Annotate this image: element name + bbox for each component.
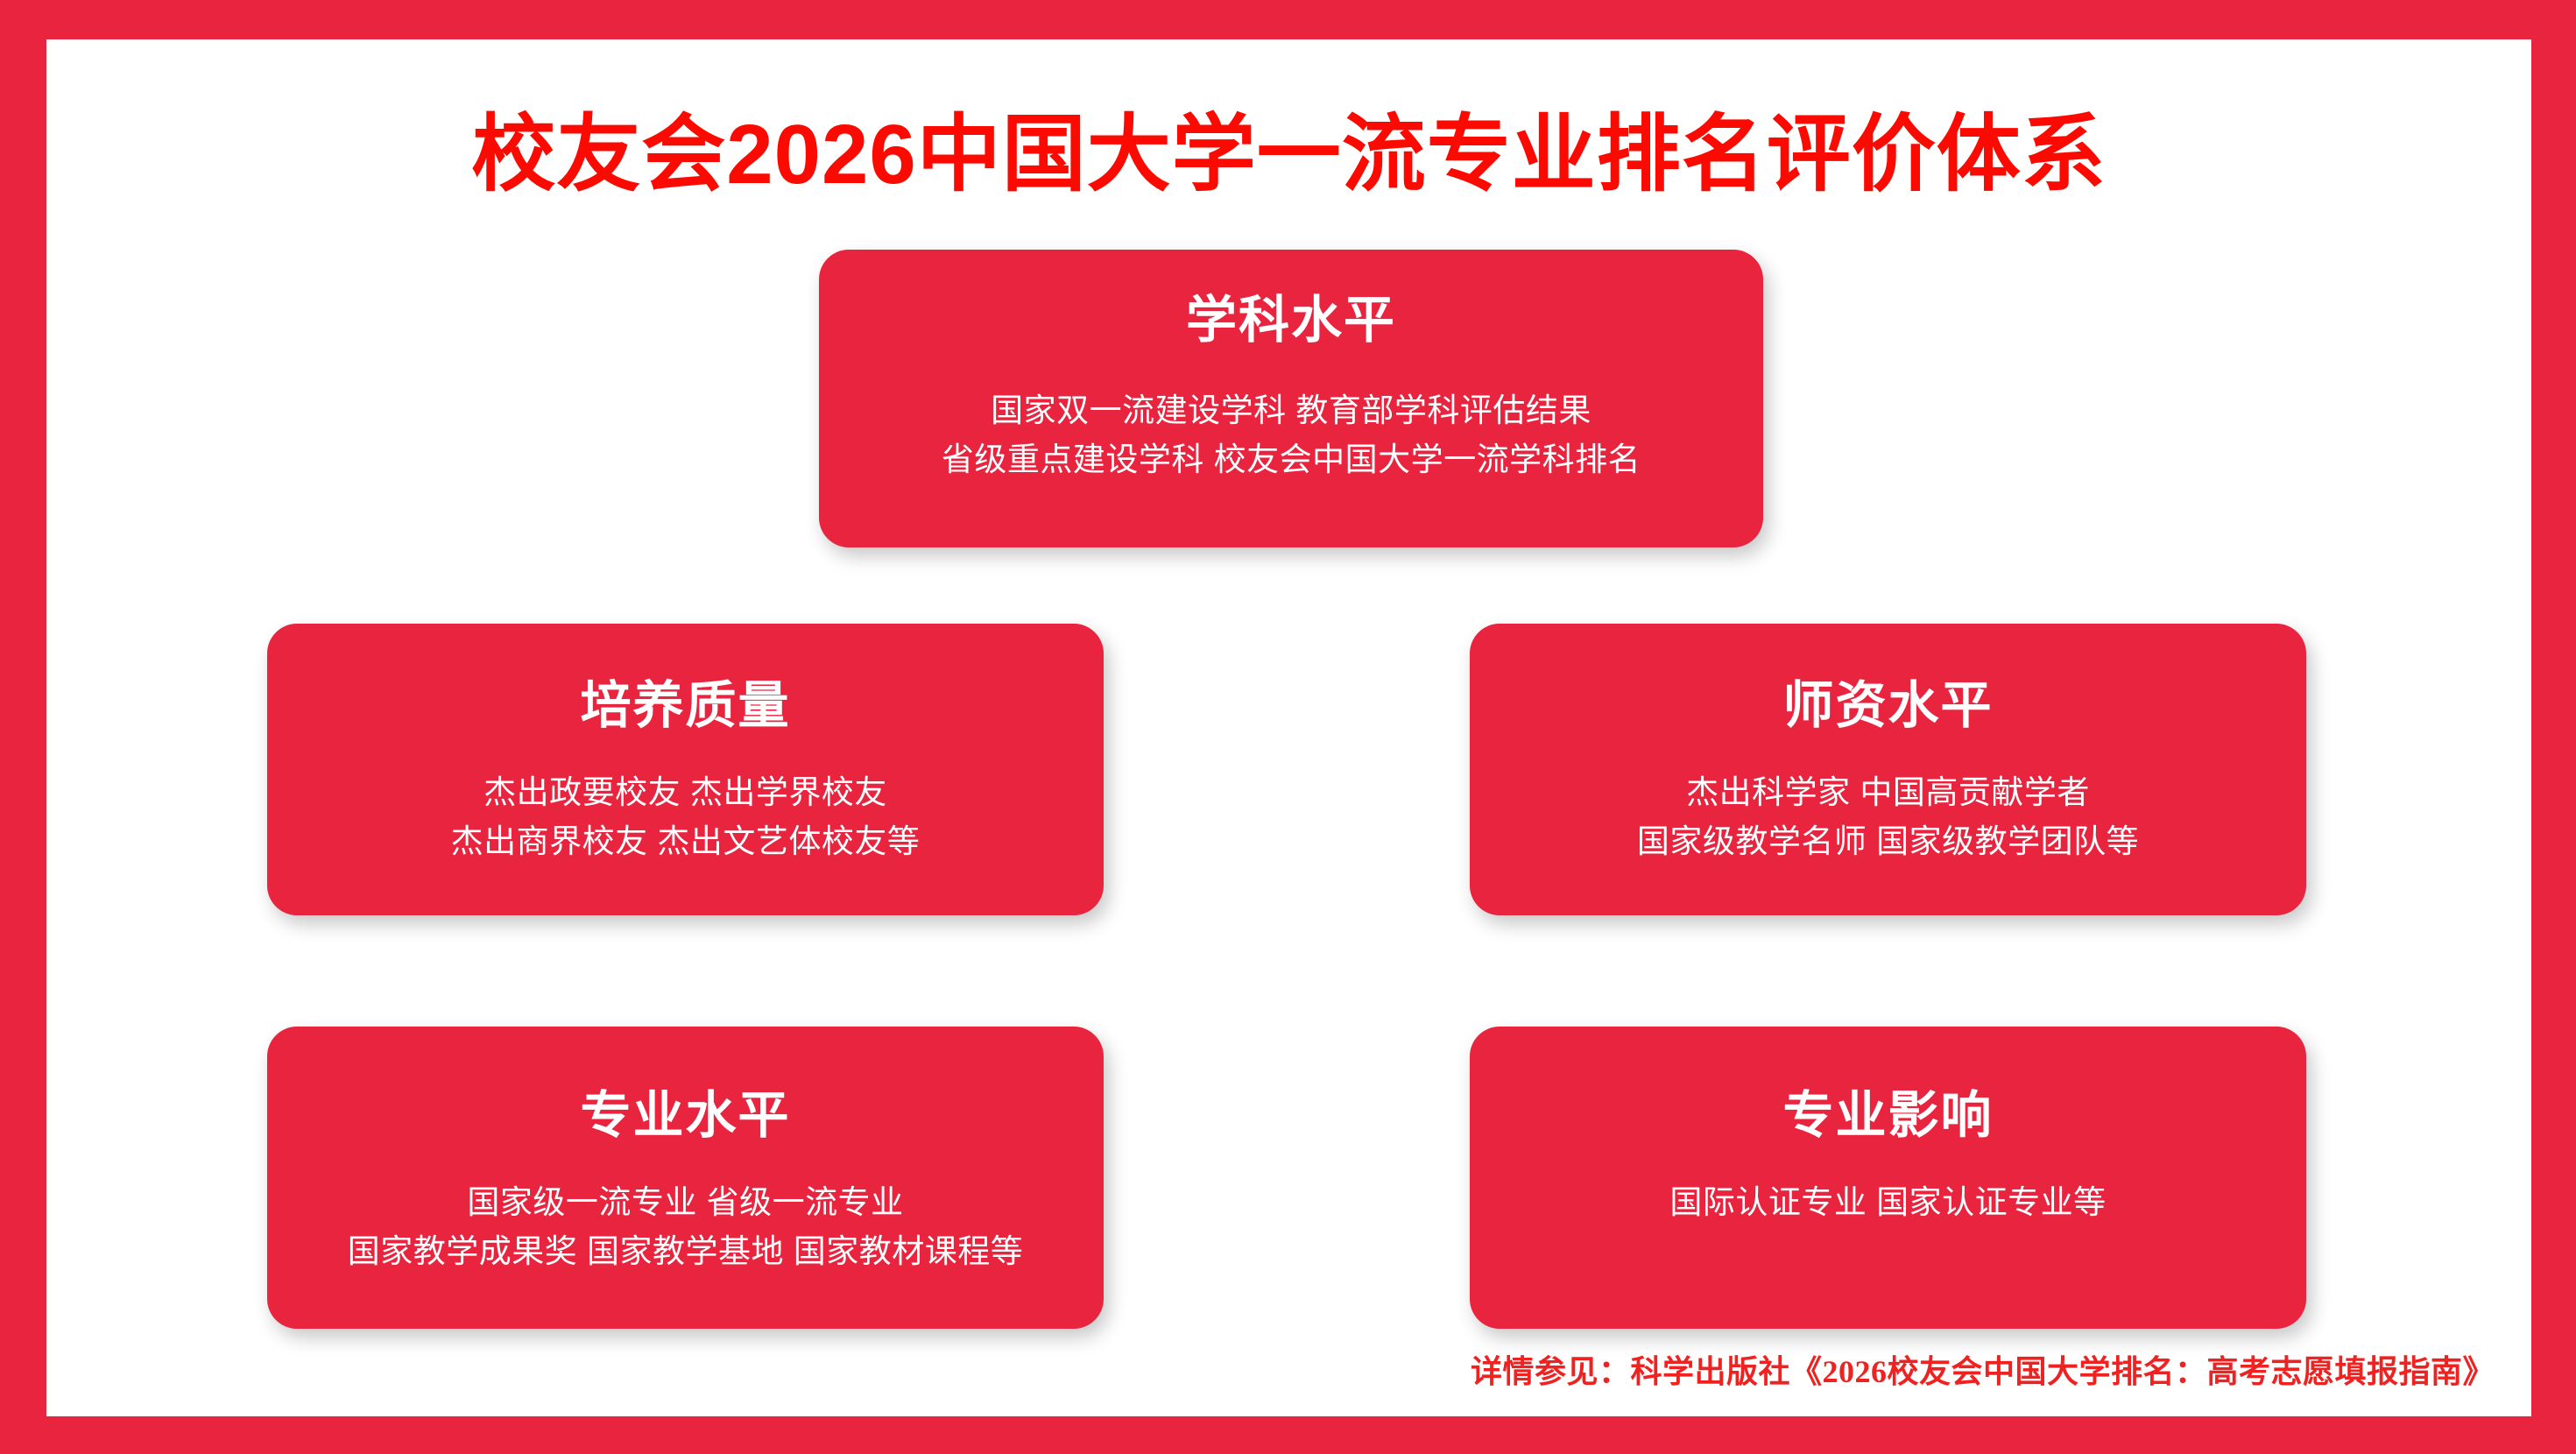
card-faculty-level[interactable]: 师资水平 杰出科学家 中国高贡献学者 国家级教学名师 国家级教学团队等: [1470, 624, 2306, 915]
poster-canvas: 校友会2026中国大学一流专业排名评价体系 学科水平 国家双一流建设学科 教育部…: [46, 39, 2531, 1416]
card-training-quality[interactable]: 培养质量 杰出政要校友 杰出学界校友 杰出商界校友 杰出文艺体校友等: [267, 624, 1104, 915]
card-line: 国家级教学名师 国家级教学团队等: [1637, 817, 2139, 866]
card-line: 杰出科学家 中国高贡献学者: [1637, 768, 2139, 817]
page-title: 校友会2026中国大学一流专业排名评价体系: [46, 111, 2531, 200]
card-title: 专业水平: [580, 1090, 790, 1141]
card-major-level[interactable]: 专业水平 国家级一流专业 省级一流专业 国家教学成果奖 国家教学基地 国家教材课…: [267, 1027, 1104, 1329]
card-body: 杰出政要校友 杰出学界校友 杰出商界校友 杰出文艺体校友等: [451, 768, 921, 866]
card-body: 国家双一流建设学科 教育部学科评估结果 省级重点建设学科 校友会中国大学一流学科…: [942, 386, 1641, 484]
card-title: 学科水平: [1186, 295, 1396, 346]
card-body: 杰出科学家 中国高贡献学者 国家级教学名师 国家级教学团队等: [1637, 768, 2139, 866]
card-line: 杰出商界校友 杰出文艺体校友等: [451, 817, 921, 866]
card-major-impact[interactable]: 专业影响 国际认证专业 国家认证专业等: [1470, 1027, 2306, 1329]
poster-root: 校友会2026中国大学一流专业排名评价体系 学科水平 国家双一流建设学科 教育部…: [0, 0, 2576, 1454]
card-title: 师资水平: [1782, 681, 1993, 731]
card-body: 国家级一流专业 省级一流专业 国家教学成果奖 国家教学基地 国家教材课程等: [348, 1178, 1024, 1276]
card-discipline-level[interactable]: 学科水平 国家双一流建设学科 教育部学科评估结果 省级重点建设学科 校友会中国大…: [819, 250, 1763, 547]
card-line: 国家教学成果奖 国家教学基地 国家教材课程等: [348, 1227, 1024, 1276]
card-line: 省级重点建设学科 校友会中国大学一流学科排名: [942, 435, 1641, 484]
card-line: 国家级一流专业 省级一流专业: [348, 1178, 1024, 1227]
card-line: 国际认证专业 国家认证专业等: [1669, 1178, 2106, 1227]
card-title: 专业影响: [1782, 1090, 1993, 1141]
source-footnote: 详情参见：科学出版社《2026校友会中国大学排名：高考志愿填报指南》: [1471, 1346, 2495, 1392]
card-body: 国际认证专业 国家认证专业等: [1669, 1178, 2106, 1227]
card-title: 培养质量: [580, 681, 790, 731]
card-line: 国家双一流建设学科 教育部学科评估结果: [942, 386, 1641, 435]
card-line: 杰出政要校友 杰出学界校友: [451, 768, 921, 817]
